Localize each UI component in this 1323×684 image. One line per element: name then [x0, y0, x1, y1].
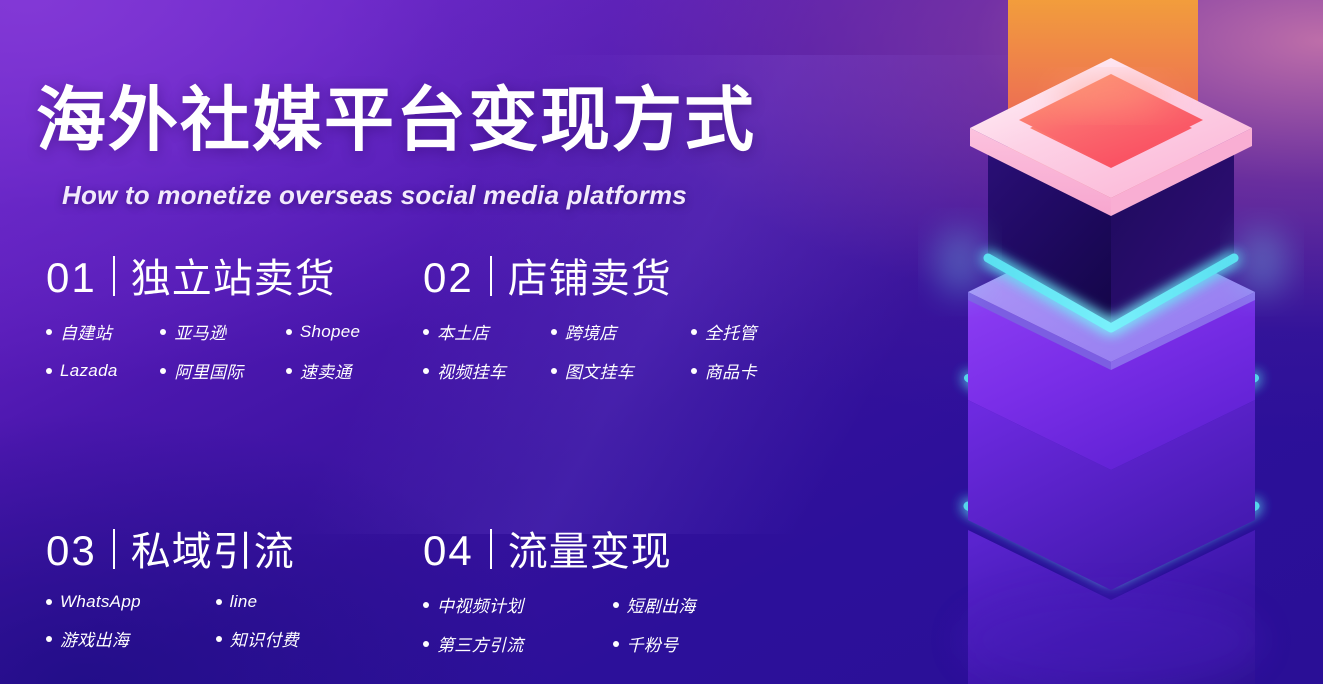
list-item[interactable]: 自建站 — [46, 319, 160, 344]
list-item-label: Lazada — [60, 361, 118, 381]
list-item[interactable]: 全托管 — [691, 319, 828, 344]
list-item-label: 阿里国际 — [174, 358, 243, 383]
poster-canvas: 海外社媒平台变现方式 How to monetize overseas soci… — [0, 0, 1323, 684]
bullet-icon — [46, 368, 52, 374]
section-03-divider — [113, 529, 115, 569]
list-item[interactable]: WhatsApp — [46, 592, 216, 612]
bullet-icon — [423, 602, 429, 608]
section-04-divider — [490, 529, 492, 569]
section-02-items: 本土店 跨境店 全托管 视频挂车 图文挂车 商品卡 — [423, 319, 835, 383]
ambient-glow-bottom — [961, 592, 1261, 684]
list-item[interactable]: 商品卡 — [691, 358, 828, 383]
list-item[interactable]: Shopee — [286, 319, 409, 344]
section-01-heading: 01 独立站卖货 — [46, 252, 415, 299]
list-item[interactable]: 视频挂车 — [423, 358, 551, 383]
section-04-heading: 04 流量变现 — [423, 525, 835, 572]
list-item[interactable]: 中视频计划 — [423, 592, 613, 617]
list-item-label: 中视频计划 — [437, 592, 524, 617]
text-content: 海外社媒平台变现方式 How to monetize overseas soci… — [0, 0, 900, 684]
list-item[interactable]: 跨境店 — [551, 319, 691, 344]
bullet-icon — [160, 329, 166, 335]
list-item-label: 图文挂车 — [565, 358, 634, 383]
list-item[interactable]: 速卖通 — [286, 358, 409, 383]
coral-diamond-highlight — [1053, 78, 1169, 114]
list-item-label: 本土店 — [437, 319, 489, 344]
list-item[interactable]: 游戏出海 — [46, 626, 216, 651]
bullet-icon — [551, 329, 557, 335]
list-item-label: 视频挂车 — [437, 358, 506, 383]
section-03-title: 私域引流 — [131, 532, 295, 572]
list-item-label: 自建站 — [60, 319, 112, 344]
bullet-icon — [46, 599, 52, 605]
bullet-icon — [613, 641, 619, 647]
bullet-icon — [46, 329, 52, 335]
list-item[interactable]: 图文挂车 — [551, 358, 691, 383]
ambient-glow-right — [1236, 228, 1288, 296]
bullet-icon — [423, 329, 429, 335]
list-item[interactable]: Lazada — [46, 358, 160, 383]
section-01-items: 自建站 亚马逊 Shopee Lazada 阿里国际 速卖通 — [46, 319, 415, 383]
section-01-title: 独立站卖货 — [131, 259, 336, 299]
section-01: 01 独立站卖货 自建站 亚马逊 Shopee Lazada 阿里国际 速卖通 — [0, 252, 415, 383]
bullet-icon — [216, 599, 222, 605]
list-item[interactable]: 阿里国际 — [160, 358, 285, 383]
section-04-title: 流量变现 — [508, 532, 672, 572]
list-item[interactable]: 本土店 — [423, 319, 551, 344]
section-02-heading: 02 店铺卖货 — [423, 252, 835, 299]
bullet-icon — [691, 368, 697, 374]
section-03-items: WhatsApp line 游戏出海 知识付费 — [46, 592, 415, 651]
section-02-title: 店铺卖货 — [508, 259, 672, 299]
list-item-label: 全托管 — [705, 319, 757, 344]
section-03-number: 03 — [46, 530, 97, 572]
sections-row-bottom: 03 私域引流 WhatsApp line 游戏出海 知识付费 04 — [0, 525, 900, 656]
bullet-icon — [286, 329, 292, 335]
sections-grid: 01 独立站卖货 自建站 亚马逊 Shopee Lazada 阿里国际 速卖通 — [0, 252, 900, 656]
section-02-number: 02 — [423, 257, 474, 299]
list-item-label: WhatsApp — [60, 592, 141, 612]
sections-row-top: 01 独立站卖货 自建站 亚马逊 Shopee Lazada 阿里国际 速卖通 — [0, 252, 900, 383]
list-item-label: Shopee — [300, 322, 360, 342]
list-item-label: 速卖通 — [300, 358, 352, 383]
list-item-label: 跨境店 — [565, 319, 617, 344]
list-item[interactable]: 知识付费 — [216, 626, 401, 651]
section-03: 03 私域引流 WhatsApp line 游戏出海 知识付费 — [0, 525, 415, 651]
ambient-glow-left — [934, 228, 986, 296]
page-title: 海外社媒平台变现方式 — [36, 84, 756, 158]
list-item[interactable]: 千粉号 — [613, 631, 819, 656]
list-item-label: line — [230, 592, 258, 612]
bullet-icon — [423, 368, 429, 374]
bullet-icon — [46, 636, 52, 642]
list-item-label: 商品卡 — [705, 358, 757, 383]
bullet-icon — [216, 636, 222, 642]
isometric-tower-svg — [900, 0, 1323, 684]
bullet-icon — [551, 368, 557, 374]
isometric-tower-illustration — [900, 0, 1323, 684]
list-item-label: 亚马逊 — [174, 319, 226, 344]
page-subtitle: How to monetize overseas social media pl… — [62, 180, 687, 211]
list-item[interactable]: line — [216, 592, 401, 612]
bullet-icon — [691, 329, 697, 335]
section-04-number: 04 — [423, 530, 474, 572]
bullet-icon — [423, 641, 429, 647]
list-item-label: 游戏出海 — [60, 626, 129, 651]
list-item-label: 千粉号 — [627, 631, 679, 656]
list-item-label: 知识付费 — [230, 626, 299, 651]
section-03-heading: 03 私域引流 — [46, 525, 415, 572]
list-item[interactable]: 第三方引流 — [423, 631, 613, 656]
section-02-divider — [490, 256, 492, 296]
section-04-items: 中视频计划 短剧出海 第三方引流 千粉号 — [423, 592, 835, 656]
bullet-icon — [286, 368, 292, 374]
list-item-label: 短剧出海 — [627, 592, 696, 617]
bullet-icon — [613, 602, 619, 608]
section-01-divider — [113, 256, 115, 296]
bullet-icon — [160, 368, 166, 374]
list-item-label: 第三方引流 — [437, 631, 524, 656]
section-02: 02 店铺卖货 本土店 跨境店 全托管 视频挂车 图文挂车 商品卡 — [415, 252, 835, 383]
list-item[interactable]: 短剧出海 — [613, 592, 819, 617]
list-item[interactable]: 亚马逊 — [160, 319, 285, 344]
section-04: 04 流量变现 中视频计划 短剧出海 第三方引流 千粉号 — [415, 525, 835, 656]
section-01-number: 01 — [46, 257, 97, 299]
